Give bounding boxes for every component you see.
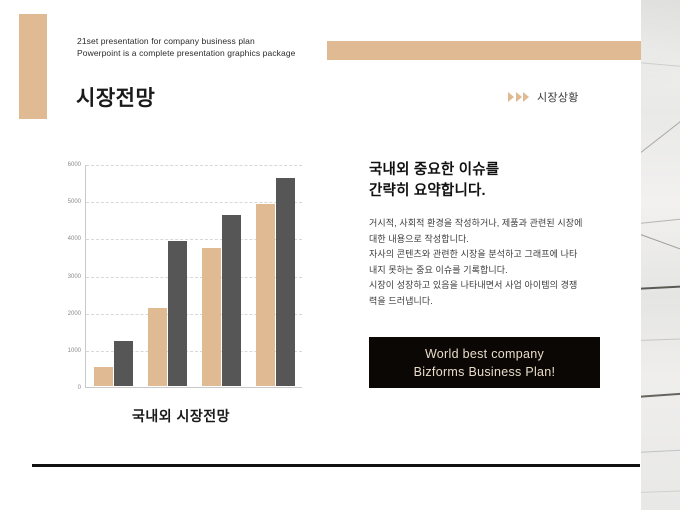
chart-y-tick-label: 0: [78, 385, 81, 391]
callout-box: World best company Bizforms Business Pla…: [369, 337, 600, 388]
chart-bar-group: [195, 165, 249, 386]
chart-bar-group: [141, 165, 195, 386]
header-subtitle: 21set presentation for company business …: [77, 36, 357, 59]
chart-bar-group: [87, 165, 141, 386]
body-copy-line1: 거시적, 사회적 환경을 작성하거나, 제품과 관련된 시장에: [369, 216, 613, 232]
marble-vein: [641, 62, 680, 68]
chart-y-tick-label: 5000: [68, 199, 81, 205]
marble-vein: [641, 392, 680, 398]
chart-y-tick-label: 2000: [68, 311, 81, 317]
triangle-right-icon: [508, 92, 514, 102]
slide-canvas: 21set presentation for company business …: [0, 0, 680, 510]
chart-bars-layer: [87, 165, 302, 386]
market-forecast-chart: 0100020003000400050006000: [52, 165, 310, 393]
callout-line2: Bizforms Business Plan!: [414, 363, 556, 381]
body-heading-line1: 국내외 중요한 이슈를: [369, 160, 619, 181]
chart-bar: [148, 308, 167, 386]
marble-vein: [641, 121, 680, 156]
chart-bar: [276, 178, 295, 386]
chart-title: 국내외 시장전망: [52, 406, 310, 426]
triple-arrow-icon: [508, 92, 529, 102]
marble-vein: [641, 338, 680, 341]
body-heading: 국내외 중요한 이슈를 간략히 요약합니다.: [369, 160, 619, 202]
chart-bar: [256, 204, 275, 386]
body-copy-line2: 대한 내용으로 작성합니다.: [369, 232, 613, 248]
chart-bar-group: [248, 165, 302, 386]
header-subtitle-line1: 21set presentation for company business …: [77, 36, 357, 48]
body-copy-line3: 자사의 콘텐츠와 관련한 시장을 분석하고 그래프에 나타: [369, 247, 613, 263]
chart-y-tick-label: 1000: [68, 348, 81, 354]
header-accent-bar: [327, 41, 680, 60]
chart-bar: [222, 215, 241, 386]
body-copy-line5: 시장이 성장하고 있음을 나타내면서 사업 아이템의 경쟁: [369, 278, 613, 294]
body-copy-line6: 력을 드러냅니다.: [369, 294, 613, 310]
section-tag: 시장상황: [508, 89, 579, 105]
chart-y-tick-label: 4000: [68, 236, 81, 242]
chart-y-tick-label: 6000: [68, 162, 81, 168]
body-copy-line4: 내지 못하는 중요 이슈를 기록합니다.: [369, 263, 613, 279]
chart-bar: [94, 367, 113, 386]
marble-texture-panel: [641, 0, 680, 510]
page-title: 시장전망: [76, 82, 155, 112]
body-heading-line2: 간략히 요약합니다.: [369, 181, 619, 202]
body-copy: 거시적, 사회적 환경을 작성하거나, 제품과 관련된 시장에 대한 내용으로 …: [369, 216, 613, 309]
triangle-right-icon: [516, 92, 522, 102]
callout-line1: World best company: [425, 345, 544, 363]
triangle-right-icon: [523, 92, 529, 102]
marble-vein: [641, 490, 680, 493]
chart-y-tick-label: 3000: [68, 274, 81, 280]
header-subtitle-line2: Powerpoint is a complete presentation gr…: [77, 48, 357, 60]
chart-bar: [202, 248, 221, 386]
header-accent-block: [19, 14, 47, 119]
marble-vein: [641, 232, 680, 253]
marble-vein: [641, 285, 680, 290]
footer-divider: [32, 464, 640, 467]
chart-bar: [114, 341, 133, 386]
chart-bar: [168, 241, 187, 386]
marble-vein: [641, 449, 680, 453]
section-tag-label: 시장상황: [537, 89, 579, 105]
marble-vein: [641, 218, 680, 224]
chart-plot-area: 0100020003000400050006000: [85, 165, 302, 388]
